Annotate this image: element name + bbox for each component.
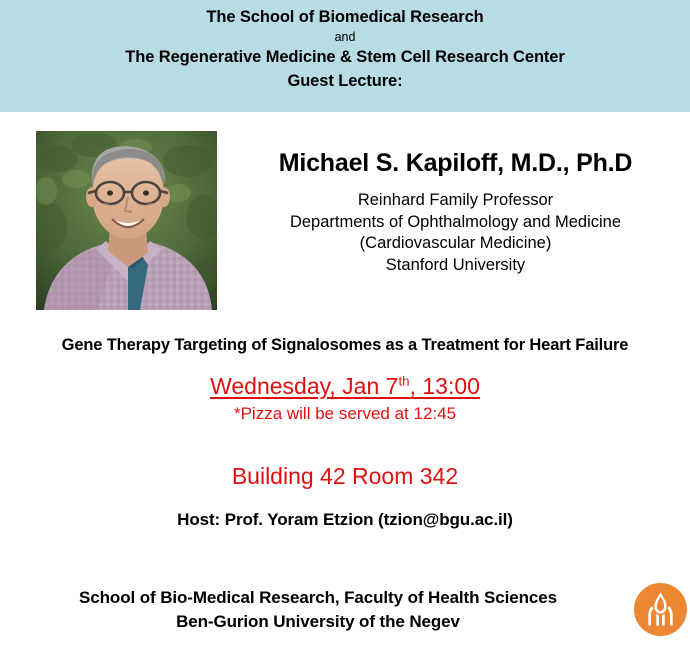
affiliation-line-2: Departments of Ophthalmology and Medicin…: [228, 212, 683, 234]
speaker-affiliation: Reinhard Family Professor Departments of…: [228, 190, 683, 276]
header-conjunction: and: [0, 28, 690, 46]
speaker-details: Michael S. Kapiloff, M.D., Ph.D Reinhard…: [228, 148, 683, 276]
header-center-name: The Regenerative Medicine & Stem Cell Re…: [0, 46, 690, 68]
footer: School of Bio-Medical Research, Faculty …: [0, 586, 690, 660]
footer-line-2: Ben-Gurion University of the Negev: [0, 610, 636, 634]
lecture-flyer: The School of Biomedical Research and Th…: [0, 0, 690, 660]
footer-text: School of Bio-Medical Research, Faculty …: [0, 586, 636, 634]
lecture-title: Gene Therapy Targeting of Signalosomes a…: [0, 334, 690, 356]
pizza-note: *Pizza will be served at 12:45: [0, 402, 690, 425]
affiliation-line-4: Stanford University: [228, 255, 683, 277]
affiliation-line-3: (Cardiovascular Medicine): [228, 233, 683, 255]
footer-line-1: School of Bio-Medical Research, Faculty …: [0, 586, 636, 610]
speaker-section: Michael S. Kapiloff, M.D., Ph.D Reinhard…: [0, 112, 690, 322]
event-date-time: Wednesday, Jan 7th, 13:00: [210, 372, 480, 400]
header-school-name: The School of Biomedical Research: [0, 7, 690, 28]
event-time-suffix: , 13:00: [410, 373, 480, 399]
event-date-prefix: Wednesday, Jan 7: [210, 373, 398, 399]
event-datetime-block: Wednesday, Jan 7th, 13:00 *Pizza will be…: [0, 372, 690, 425]
header-band: The School of Biomedical Research and Th…: [0, 0, 690, 112]
event-host: Host: Prof. Yoram Etzion (tzion@bgu.ac.i…: [0, 508, 690, 532]
event-date-ordinal: th: [398, 373, 409, 388]
event-venue: Building 42 Room 342: [0, 462, 690, 490]
speaker-photo: [36, 131, 217, 310]
header-guest-lecture-label: Guest Lecture:: [0, 68, 690, 92]
affiliation-line-1: Reinhard Family Professor: [228, 190, 683, 212]
speaker-name: Michael S. Kapiloff, M.D., Ph.D: [228, 148, 683, 178]
bgu-flame-logo-icon: [634, 583, 687, 636]
